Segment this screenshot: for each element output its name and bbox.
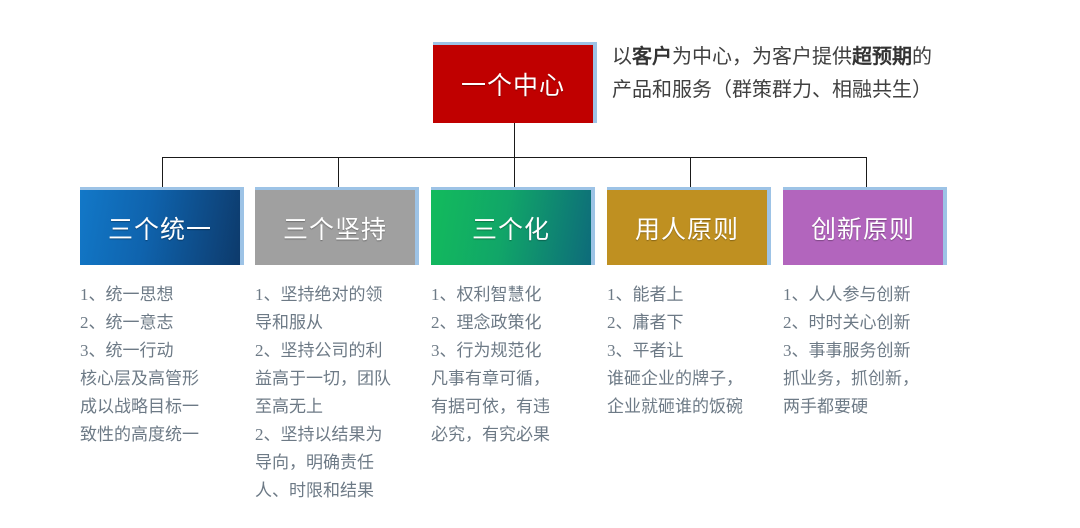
motto-line-2: 产品和服务（群策群力、相融共生） xyxy=(612,79,932,101)
category-columns: 三个统一 1、统一思想 2、统一意志 3、统一行动 核心层及高管形 成以战略目标… xyxy=(0,187,1080,527)
category-header-3[interactable]: 用人原则 xyxy=(607,187,771,265)
motto-line-1: 以客户为中心，为客户提供超预期的 xyxy=(612,46,932,68)
connector-drop-2 xyxy=(514,157,515,188)
root-node-one-center[interactable]: 一个中心 xyxy=(433,42,597,123)
category-column-3: 用人原则 1、能者上 2、庸者下 3、平者让 谁砸企业的牌子， 企业就砸谁的饭碗 xyxy=(607,187,771,421)
category-title-1: 三个坚持 xyxy=(283,210,387,246)
motto-pre: 以 xyxy=(612,46,632,68)
category-body-2: 1、权利智慧化 2、理念政策化 3、行为规范化 凡事有章可循， 有据可依，有违 … xyxy=(431,281,595,449)
category-title-4: 创新原则 xyxy=(811,210,915,246)
root-node-label: 一个中心 xyxy=(461,66,565,102)
connector-drop-1 xyxy=(338,157,339,188)
motto-post: 的 xyxy=(912,46,932,68)
category-body-1: 1、坚持绝对的领 导和服从 2、坚持公司的利 益高于一切，团队 至高无上 2、坚… xyxy=(255,281,419,505)
category-title-0: 三个统一 xyxy=(108,210,212,246)
category-header-2[interactable]: 三个化 xyxy=(431,187,595,265)
category-header-1[interactable]: 三个坚持 xyxy=(255,187,419,265)
category-column-0: 三个统一 1、统一思想 2、统一意志 3、统一行动 核心层及高管形 成以战略目标… xyxy=(80,187,244,449)
motto-mid: 为中心，为客户提供 xyxy=(672,46,852,68)
category-body-0: 1、统一思想 2、统一意志 3、统一行动 核心层及高管形 成以战略目标一 致性的… xyxy=(80,281,244,449)
motto-bold-customer: 客户 xyxy=(632,46,672,68)
category-title-2: 三个化 xyxy=(472,210,550,246)
connector-drop-3 xyxy=(690,157,691,188)
category-column-4: 创新原则 1、人人参与创新 2、时时关心创新 3、事事服务创新 抓业务，抓创新，… xyxy=(783,187,947,421)
category-header-4[interactable]: 创新原则 xyxy=(783,187,947,265)
diagram-canvas: 一个中心 以客户为中心，为客户提供超预期的 产品和服务（群策群力、相融共生） 三… xyxy=(0,0,1080,528)
motto-bold-expectation: 超预期 xyxy=(852,46,912,68)
category-header-0[interactable]: 三个统一 xyxy=(80,187,244,265)
connector-drop-0 xyxy=(162,157,163,188)
connector-drop-4 xyxy=(866,157,867,188)
category-column-2: 三个化 1、权利智慧化 2、理念政策化 3、行为规范化 凡事有章可循， 有据可依… xyxy=(431,187,595,449)
category-body-4: 1、人人参与创新 2、时时关心创新 3、事事服务创新 抓业务，抓创新， 两手都要… xyxy=(783,281,947,421)
category-body-3: 1、能者上 2、庸者下 3、平者让 谁砸企业的牌子， 企业就砸谁的饭碗 xyxy=(607,281,771,421)
motto-text: 以客户为中心，为客户提供超预期的 产品和服务（群策群力、相融共生） xyxy=(612,41,1012,107)
category-title-3: 用人原则 xyxy=(635,210,739,246)
connector-root-stem xyxy=(514,123,515,158)
category-column-1: 三个坚持 1、坚持绝对的领 导和服从 2、坚持公司的利 益高于一切，团队 至高无… xyxy=(255,187,419,505)
